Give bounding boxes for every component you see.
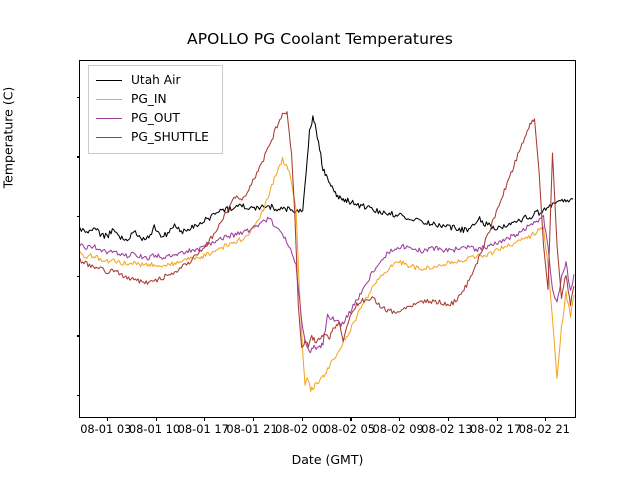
y-tick-mark (77, 335, 81, 336)
y-tick-mark (77, 156, 81, 157)
legend: Utah Air PG_IN PG_OUT PG_SHUTTLE (88, 65, 223, 154)
legend-item-utah-air: Utah Air (96, 71, 216, 90)
x-tick-label: 08-02 13 (421, 422, 472, 436)
x-tick-label: 08-01 17 (178, 422, 229, 436)
x-tick-mark (204, 417, 205, 421)
x-tick-mark (253, 417, 254, 421)
series-line-pg-in (80, 157, 574, 391)
x-tick-label: 08-01 03 (80, 422, 131, 436)
x-tick-label: 08-01 21 (226, 422, 277, 436)
x-tick-mark (545, 417, 546, 421)
x-tick-mark (350, 417, 351, 421)
y-tick-mark (77, 216, 81, 217)
x-axis-label: Date (GMT) (79, 452, 576, 467)
x-tick-label: 08-02 05 (324, 422, 375, 436)
x-tick-mark (448, 417, 449, 421)
x-tick-mark (497, 417, 498, 421)
legend-swatch-pg-shuttle (96, 137, 122, 138)
legend-swatch-pg-in (96, 99, 122, 100)
legend-label-pg-shuttle: PG_SHUTTLE (131, 131, 209, 143)
x-tick-mark (156, 417, 157, 421)
y-axis-label: Temperature (C) (1, 38, 16, 238)
y-tick-mark (77, 97, 81, 98)
page-title: APOLLO PG Coolant Temperatures (0, 30, 640, 48)
x-tick-label: 08-02 00 (275, 422, 326, 436)
matplotlib-figure: APOLLO PG Coolant Temperatures Temperatu… (0, 0, 640, 480)
y-tick-mark (77, 395, 81, 396)
legend-swatch-pg-out (96, 118, 122, 119)
x-tick-mark (302, 417, 303, 421)
series-line-pg-out (80, 216, 574, 353)
x-tick-mark (107, 417, 108, 421)
x-tick-label: 08-01 10 (129, 422, 180, 436)
legend-item-pg-shuttle: PG_SHUTTLE (96, 128, 216, 147)
legend-label-pg-in: PG_IN (131, 93, 167, 105)
x-tick-label: 08-02 17 (470, 422, 521, 436)
legend-item-pg-out: PG_OUT (96, 109, 216, 128)
x-tick-label: 08-02 09 (373, 422, 424, 436)
legend-label-pg-out: PG_OUT (131, 112, 180, 124)
x-tick-label: 08-02 21 (519, 422, 570, 436)
legend-swatch-utah-air (96, 80, 122, 81)
y-tick-mark (77, 276, 81, 277)
legend-label-utah-air: Utah Air (131, 74, 181, 86)
legend-item-pg-in: PG_IN (96, 90, 216, 109)
x-tick-mark (399, 417, 400, 421)
